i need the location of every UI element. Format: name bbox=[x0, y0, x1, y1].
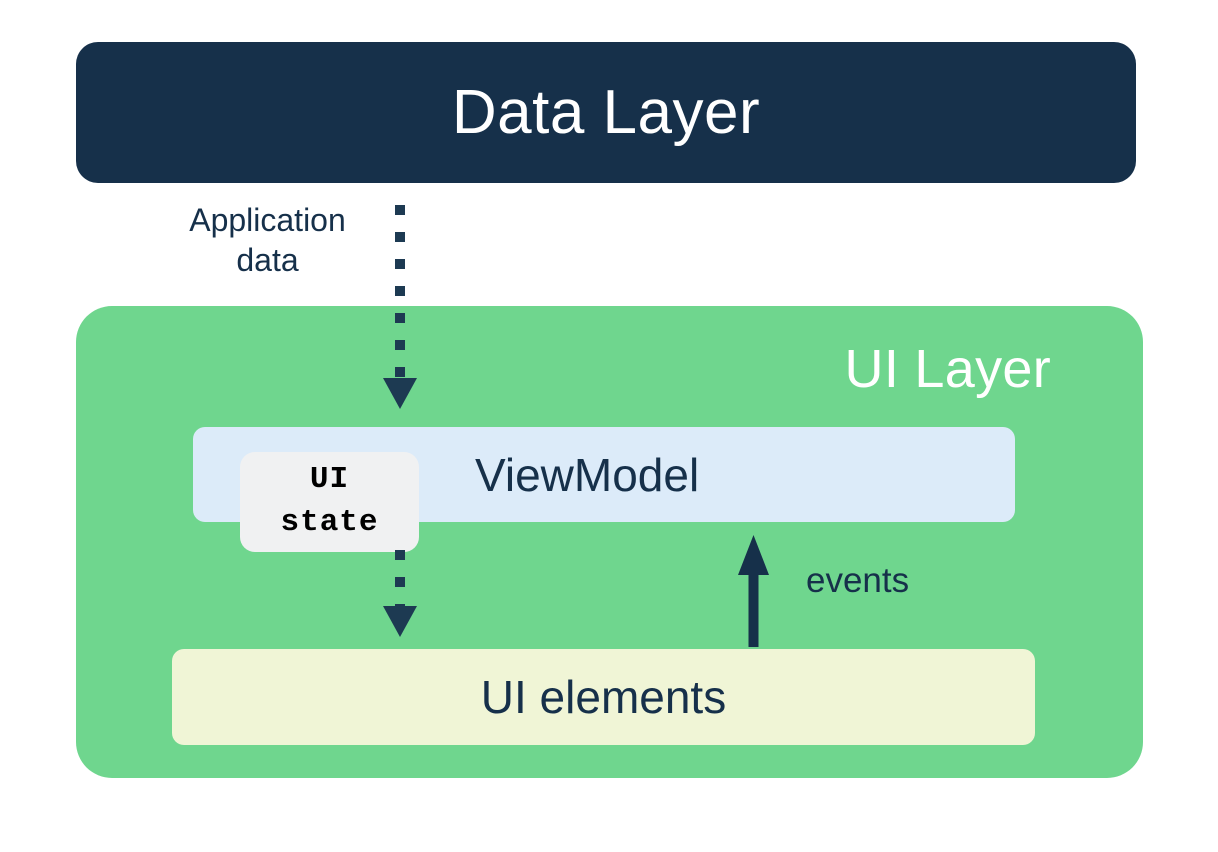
application-data-dotted-line bbox=[395, 205, 405, 380]
data-layer-label: Data Layer bbox=[452, 82, 760, 144]
ui-state-badge: UI state bbox=[240, 452, 419, 552]
ui-state-dotted-line bbox=[395, 550, 405, 608]
ui-state-line-1: UI bbox=[310, 459, 349, 502]
application-data-label-line2: data bbox=[155, 241, 380, 281]
events-label: events bbox=[806, 563, 909, 598]
application-data-label: Application data bbox=[155, 201, 380, 280]
ui-state-line-2: state bbox=[280, 502, 378, 545]
ui-elements-label: UI elements bbox=[481, 674, 726, 720]
ui-elements-box: UI elements bbox=[172, 649, 1035, 745]
application-data-arrowhead-icon bbox=[383, 378, 417, 409]
ui-layer-label: UI Layer bbox=[845, 342, 1051, 396]
viewmodel-label: ViewModel bbox=[475, 452, 699, 498]
ui-state-arrowhead-icon bbox=[383, 606, 417, 637]
application-data-label-line1: Application bbox=[155, 201, 380, 241]
data-layer-box: Data Layer bbox=[76, 42, 1136, 183]
events-arrow-up-icon bbox=[738, 535, 769, 647]
architecture-diagram: Data Layer Application data UI Layer Vie… bbox=[0, 0, 1218, 852]
